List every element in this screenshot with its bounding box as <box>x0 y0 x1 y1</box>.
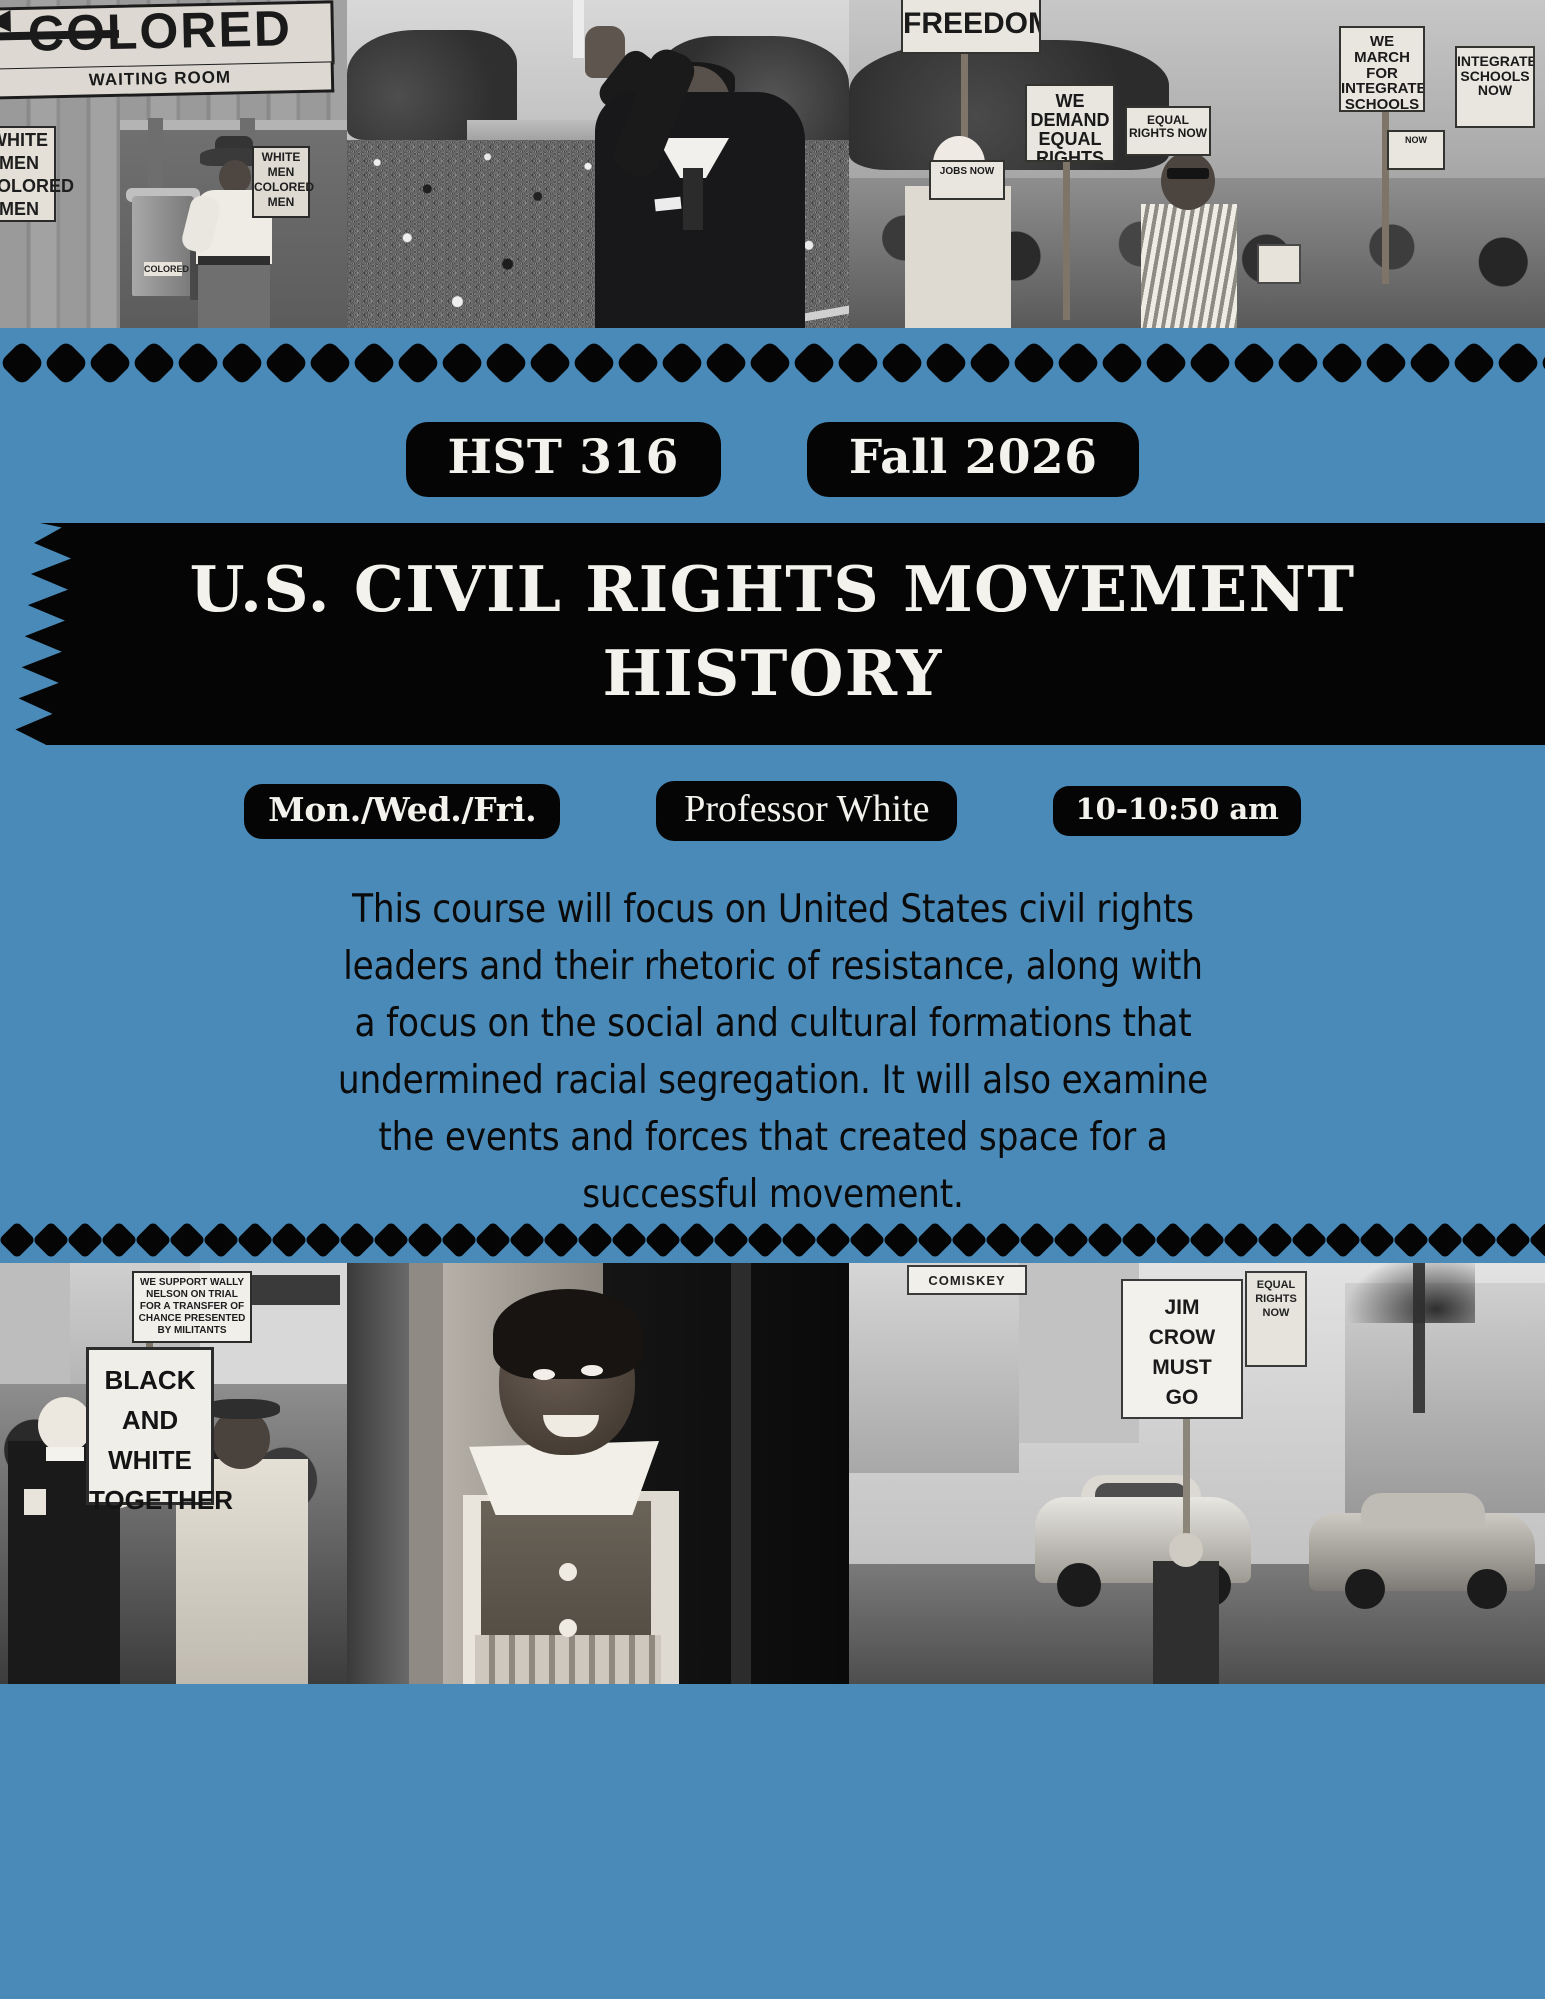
diamond-dot-icon <box>1188 1223 1226 1257</box>
photo-clergy-head <box>38 1397 92 1453</box>
course-title-banner: U.S. CIVIL RIGHTS MOVEMENT HISTORY <box>0 523 1545 745</box>
diamond-dot-icon <box>395 340 441 386</box>
diamond-dot-icon <box>219 340 265 386</box>
photo-door-frame <box>347 1263 409 1684</box>
diamond-dot-icon <box>1222 1223 1260 1257</box>
bottom-dot-divider <box>0 1223 1545 1257</box>
course-term-badge: Fall 2026 <box>807 422 1140 497</box>
diamond-dot-icon <box>747 340 793 386</box>
diamond-dot-icon <box>1324 1223 1362 1257</box>
diamond-dot-icon <box>678 1223 716 1257</box>
diamond-dot-icon <box>1407 340 1453 386</box>
diamond-dot-icon <box>746 1223 784 1257</box>
photo-figure-belt <box>198 256 270 265</box>
diamond-dot-icon <box>1363 340 1409 386</box>
photo-girl-eye <box>533 1369 555 1380</box>
photo-marcher-hat <box>204 1399 280 1419</box>
diamond-dot-icon <box>338 1223 376 1257</box>
diamond-dot-icon <box>1451 340 1497 386</box>
picket-sign-jim-crow-must-go: JIMCROWMUSTGO <box>1121 1279 1243 1419</box>
photo-handbag <box>1257 244 1301 284</box>
diamond-dot-icon <box>1426 1223 1464 1257</box>
photo-door-jamb <box>409 1263 443 1684</box>
photo-colored-sign: COLORED <box>0 0 335 71</box>
picket-sign-equal-rights: WE DEMAND EQUAL RIGHTS NOW! <box>1025 84 1115 162</box>
diamond-dot-icon <box>542 1223 580 1257</box>
photo-cooler-label: COLORED <box>144 262 182 276</box>
diamond-dot-icon <box>134 1223 172 1257</box>
picket-sign-equal-rights: EQUALRIGHTSNOW <box>1245 1271 1307 1367</box>
diamond-dot-icon <box>474 1223 512 1257</box>
diamond-dot-icon <box>1528 1223 1545 1257</box>
march-on-washington-photo <box>347 0 849 328</box>
photo-storefront-sign: COMISKEY <box>907 1265 1027 1295</box>
photo-colored-sign-text: COLORED <box>0 0 331 63</box>
photo-button <box>559 1619 577 1637</box>
photo-car-wheel <box>1467 1569 1507 1609</box>
diamond-dot-icon <box>1187 340 1233 386</box>
diamond-dot-icon <box>351 340 397 386</box>
photo-plaid-skirt <box>475 1635 661 1684</box>
course-meta-row: HST 316 Fall 2026 <box>0 422 1545 497</box>
diamond-dot-icon <box>703 340 749 386</box>
photo-figure-head <box>219 160 251 194</box>
photo-woman-head <box>1161 152 1215 210</box>
diamond-dot-icon <box>1052 1223 1090 1257</box>
diamond-dot-icon <box>175 340 221 386</box>
meeting-days-badge: Mon./Wed./Fri. <box>244 784 560 839</box>
diamond-dot-icon <box>879 340 925 386</box>
course-description: This course will focus on United States … <box>333 881 1213 1223</box>
diamond-dot-icon <box>615 340 661 386</box>
diamond-dot-icon <box>1290 1223 1328 1257</box>
photo-storefront-sign <box>244 1275 340 1305</box>
jim-crow-must-go-photo: COMISKEY EQUALRIGHTSNOW JIMCROWMUSTGO <box>849 1263 1545 1684</box>
instructor-badge: Professor White <box>656 781 957 841</box>
diamond-dot-icon <box>967 340 1013 386</box>
diamond-dot-icon <box>712 1223 750 1257</box>
black-and-white-together-march-photo: WE SUPPORT WALLY NELSON ON TRIAL FOR A T… <box>0 1263 347 1684</box>
photo-figure-legs <box>198 258 270 328</box>
diamond-dot-icon <box>1495 340 1541 386</box>
diamond-dot-icon <box>835 340 881 386</box>
photo-door-edge <box>731 1263 751 1684</box>
diamond-dot-icon <box>1099 340 1145 386</box>
diamond-dot-icon <box>950 1223 988 1257</box>
diamond-dot-icon <box>372 1223 410 1257</box>
photo-sign-left-text: WHITEMENCOLOREDMEN <box>0 129 54 221</box>
diamond-dot-icon <box>644 1223 682 1257</box>
diamond-dot-icon <box>923 340 969 386</box>
diamond-dot-icon <box>168 1223 206 1257</box>
school-integration-girl-photo <box>347 1263 849 1684</box>
diamond-dot-icon <box>1392 1223 1430 1257</box>
course-code-badge: HST 316 <box>406 422 721 497</box>
diamond-dot-icon <box>576 1223 614 1257</box>
diamond-dot-icon <box>1256 1223 1294 1257</box>
diamond-dot-icon <box>1319 340 1365 386</box>
diamond-dot-icon <box>1086 1223 1124 1257</box>
photo-clergy-collar <box>46 1447 84 1461</box>
photo-waiting-room-text: WAITING ROOM <box>0 65 331 92</box>
diamond-dot-icon <box>66 1223 104 1257</box>
diamond-dot-icon <box>87 340 133 386</box>
photo-girl-hair <box>493 1289 643 1379</box>
diamond-dot-icon <box>236 1223 274 1257</box>
photo-car-wheel <box>1057 1563 1101 1607</box>
picket-sign-support: WE SUPPORT WALLY NELSON ON TRIAL FOR A T… <box>132 1271 252 1343</box>
picket-sign-integrated-schools: WE MARCH FOR INTEGRATED SCHOOLS NOW! <box>1339 26 1425 112</box>
diamond-dot-icon <box>440 1223 478 1257</box>
photo-sign-mid-text: WHITEMENCOLOREDMEN <box>254 150 308 210</box>
diamond-dot-icon <box>571 340 617 386</box>
photo-sign-left: WHITEMENCOLOREDMEN <box>0 126 56 222</box>
diamond-dot-icon <box>1460 1223 1498 1257</box>
diamond-dot-icon <box>100 1223 138 1257</box>
diamond-dot-icon <box>406 1223 444 1257</box>
diamond-dot-icon <box>1143 340 1189 386</box>
diamond-dot-icon <box>270 1223 308 1257</box>
course-info-panel: HST 316 Fall 2026 U.S. CIVIL RIGHTS MOVE… <box>0 422 1545 1223</box>
diamond-dot-icon <box>1494 1223 1532 1257</box>
diamond-dot-icon <box>1275 340 1321 386</box>
picket-sign-freedom: FREEDOM <box>901 0 1041 54</box>
diamond-dot-icon <box>32 1223 70 1257</box>
diamond-dot-icon <box>0 340 45 386</box>
diamond-dot-icon <box>780 1223 818 1257</box>
diamond-dot-icon <box>791 340 837 386</box>
diamond-dot-icon <box>1154 1223 1192 1257</box>
picket-sign-equal-rights-now: EQUAL RIGHTS NOW <box>1125 106 1211 156</box>
diamond-dot-icon <box>508 1223 546 1257</box>
diamond-dot-icon <box>984 1223 1022 1257</box>
picket-sign-black-and-white-together: BLACKANDWHITETOGETHER <box>86 1347 214 1505</box>
picket-sign-schools-now: INTEGRATED SCHOOLS NOW <box>1455 46 1535 128</box>
diamond-dot-icon <box>814 1223 852 1257</box>
diamond-dot-icon <box>1539 340 1545 386</box>
diamond-dot-icon <box>1018 1223 1056 1257</box>
diamond-dot-icon <box>848 1223 886 1257</box>
sunglasses-icon <box>1167 168 1209 179</box>
diamond-dot-icon <box>527 340 573 386</box>
photo-protester-head <box>1169 1533 1203 1567</box>
meeting-time-badge: 10-10:50 am <box>1053 786 1300 836</box>
diamond-dot-icon <box>439 340 485 386</box>
diamond-dot-icon <box>1231 340 1277 386</box>
photo-woman-body <box>1141 204 1237 328</box>
segregated-waiting-room-photo: WHITEMENCOLOREDMEN COLORED WHITEMENCOLOR… <box>0 0 347 328</box>
photo-palm-fronds <box>1345 1263 1475 1323</box>
diamond-dot-icon <box>263 340 309 386</box>
picket-stick <box>1063 150 1070 320</box>
page-title: U.S. CIVIL RIGHTS MOVEMENT HISTORY <box>0 547 1545 715</box>
diamond-dot-icon <box>307 340 353 386</box>
picket-sign-jobs: JOBS NOW <box>929 160 1005 200</box>
diamond-dot-icon <box>131 340 177 386</box>
equal-rights-march-photo: FREEDOM WE DEMAND EQUAL RIGHTS NOW! EQUA… <box>849 0 1545 328</box>
photo-marcher-body <box>905 186 1011 328</box>
photo-monument <box>573 0 584 58</box>
top-photo-strip: WHITEMENCOLOREDMEN COLORED WHITEMENCOLOR… <box>0 0 1545 328</box>
photo-protester-body <box>1153 1561 1219 1684</box>
diamond-dot-icon <box>0 1223 36 1257</box>
diamond-dot-icon <box>610 1223 648 1257</box>
photo-button <box>559 1563 577 1581</box>
photo-speaker-tie <box>683 168 703 230</box>
diamond-dot-icon <box>1358 1223 1396 1257</box>
picket-sign-now: NOW <box>1387 130 1445 170</box>
diamond-dot-icon <box>1055 340 1101 386</box>
diamond-dot-icon <box>304 1223 342 1257</box>
diamond-dot-icon <box>43 340 89 386</box>
photo-lapel-badge <box>24 1489 46 1515</box>
photo-treeline <box>849 40 1169 170</box>
photo-car-wheel <box>1345 1569 1385 1609</box>
bottom-photo-strip: WE SUPPORT WALLY NELSON ON TRIAL FOR A T… <box>0 1263 1545 1684</box>
top-dot-divider <box>0 340 1545 386</box>
diamond-dot-icon <box>1011 340 1057 386</box>
diamond-dot-icon <box>202 1223 240 1257</box>
photo-girl-eye <box>581 1365 603 1376</box>
diamond-dot-icon <box>916 1223 954 1257</box>
diamond-dot-icon <box>659 340 705 386</box>
schedule-row: Mon./Wed./Fri. Professor White 10-10:50 … <box>0 781 1545 841</box>
photo-sign-mid: WHITEMENCOLOREDMEN <box>252 146 310 218</box>
diamond-dot-icon <box>1120 1223 1158 1257</box>
diamond-dot-icon <box>882 1223 920 1257</box>
diamond-dot-icon <box>483 340 529 386</box>
photo-car-roof <box>1361 1493 1485 1525</box>
